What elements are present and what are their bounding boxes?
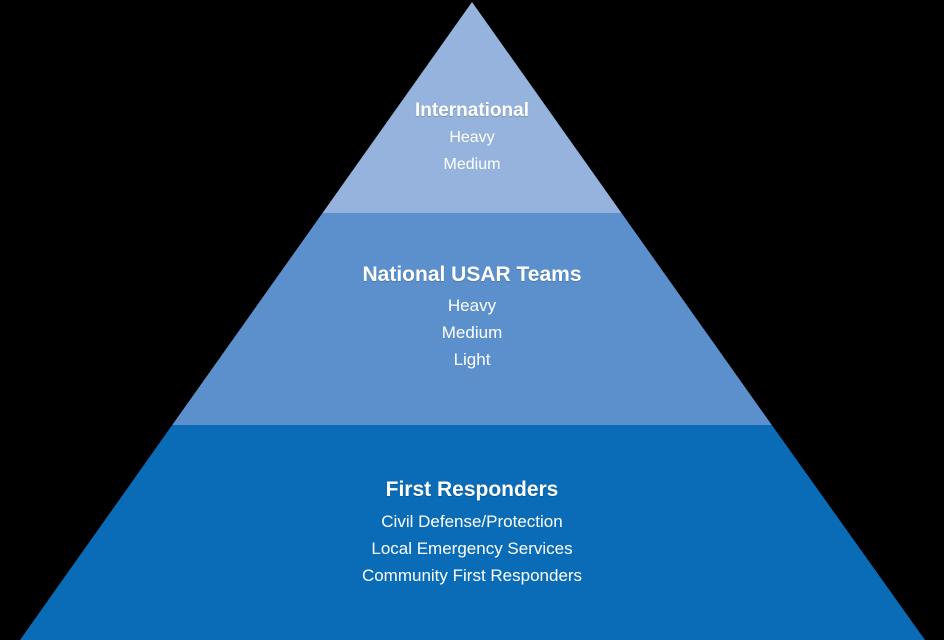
pyramid-tier-international[interactable] xyxy=(323,2,622,213)
pyramid-shape xyxy=(0,0,944,640)
pyramid-tier-national-usar-teams[interactable] xyxy=(172,213,772,425)
pyramid-diagram: International Heavy Medium National USAR… xyxy=(0,0,944,640)
pyramid-tier-first-responders[interactable] xyxy=(20,425,925,640)
